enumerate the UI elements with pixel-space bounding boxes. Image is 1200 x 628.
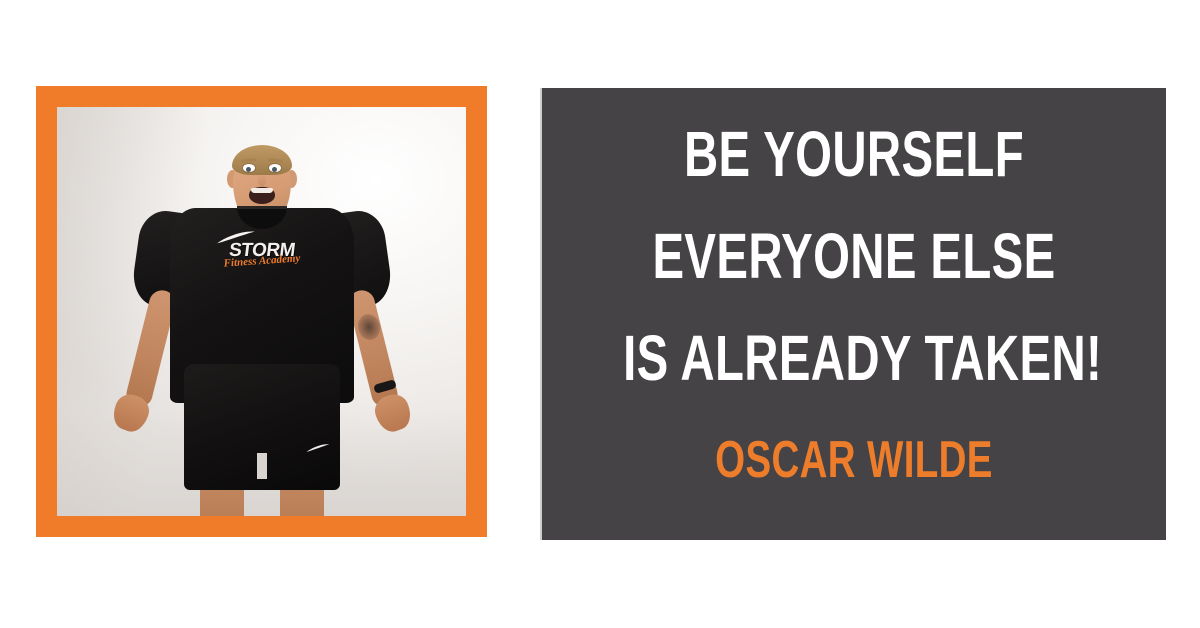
poster-canvas: STORM Fitness Academy — [0, 0, 1200, 628]
arm-right — [346, 288, 400, 409]
quote-line-2: EVERYONE ELSE — [623, 224, 1085, 288]
quote-line-1: BE YOURSELF — [623, 122, 1085, 186]
pupil-right — [272, 167, 277, 172]
photo-frame: STORM Fitness Academy — [36, 86, 487, 537]
quote-attribution: OSCAR WILDE — [623, 434, 1085, 486]
person-figure: STORM Fitness Academy — [57, 107, 466, 516]
shorts-gap — [257, 453, 267, 479]
nike-swoosh-shorts-icon — [306, 444, 330, 453]
quote-line-3: IS ALREADY TAKEN! — [623, 326, 1085, 390]
nose — [258, 174, 266, 187]
quote-panel: BE YOURSELF EVERYONE ELSE IS ALREADY TAK… — [540, 88, 1166, 540]
teeth — [251, 188, 273, 193]
pupil-left — [246, 167, 251, 172]
photo-image: STORM Fitness Academy — [57, 107, 466, 516]
